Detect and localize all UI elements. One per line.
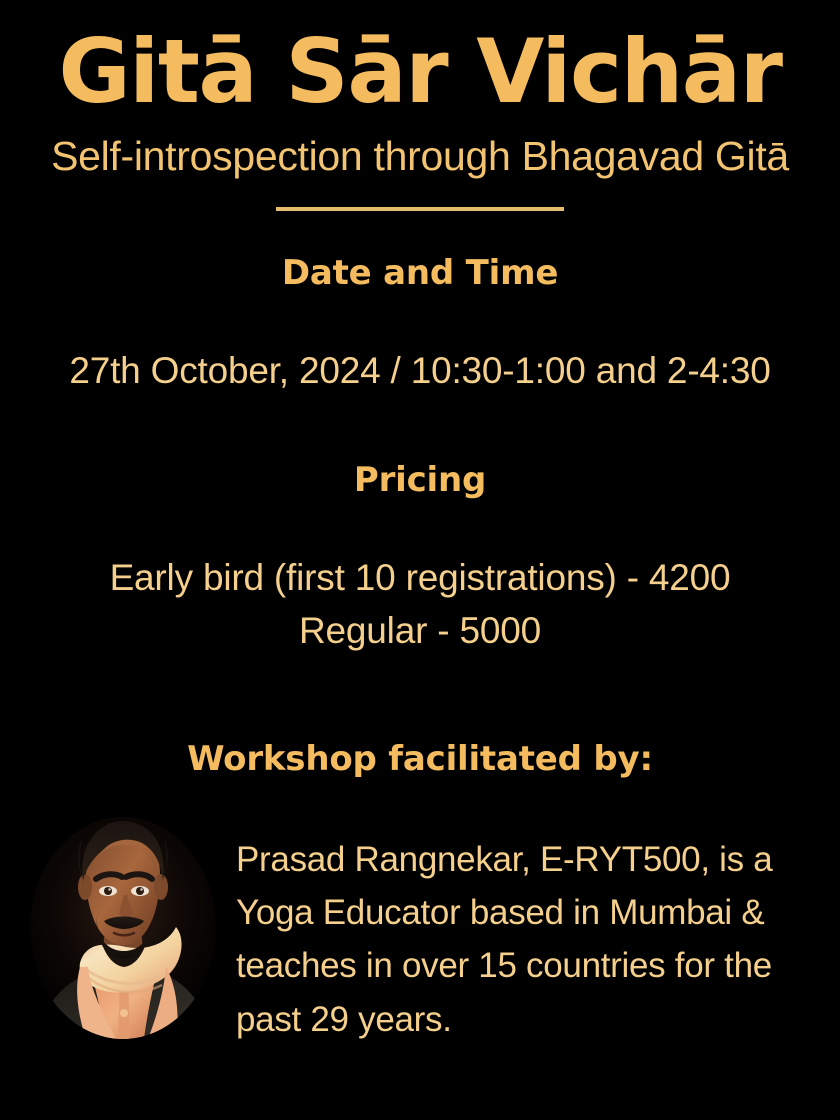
page-title: Gitā Sār Vichār xyxy=(0,26,840,118)
page-subtitle: Self-introspection through Bhagavad Gitā xyxy=(0,134,840,179)
avatar xyxy=(30,817,216,1039)
facilitator-block: Prasad Rangnekar, E-RYT500, is a Yoga Ed… xyxy=(0,817,840,1046)
pricing-regular: Regular - 5000 xyxy=(0,605,840,658)
pricing-heading: Pricing xyxy=(0,460,840,500)
facilitator-bio: Prasad Rangnekar, E-RYT500, is a Yoga Ed… xyxy=(216,817,840,1046)
title-divider xyxy=(276,207,564,211)
date-and-time-value: 27th October, 2024 / 10:30-1:00 and 2-4:… xyxy=(0,345,840,398)
facilitator-portrait-photo xyxy=(30,817,216,1039)
facilitator-heading: Workshop facilitated by: xyxy=(0,739,840,779)
poster-canvas: Gitā Sār Vichār Self-introspection throu… xyxy=(0,0,840,1120)
divider-wrapper xyxy=(0,207,840,211)
pricing-early-bird: Early bird (first 10 registrations) - 42… xyxy=(0,552,840,605)
date-and-time-heading: Date and Time xyxy=(0,253,840,293)
